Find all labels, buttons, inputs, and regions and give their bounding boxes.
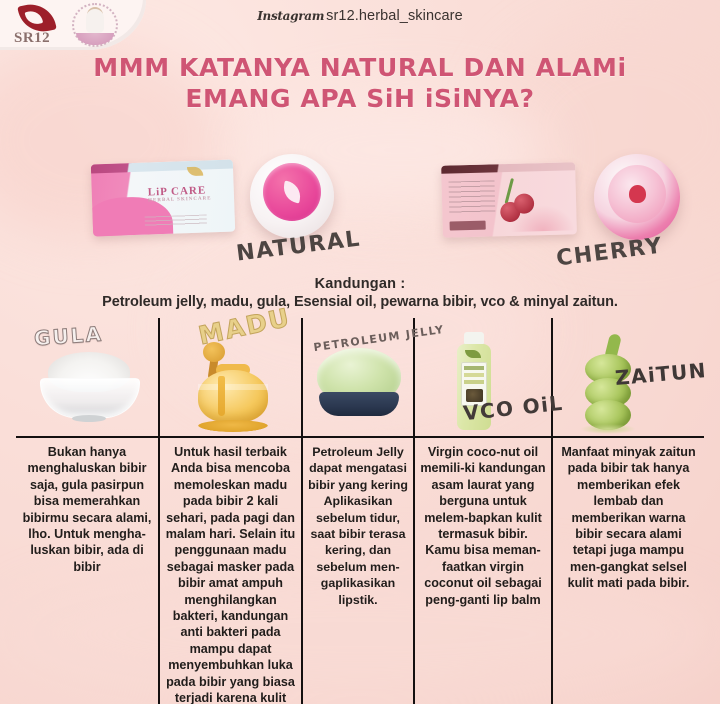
product-label-cherry: CHERRY bbox=[555, 234, 664, 272]
glass-bowl bbox=[40, 378, 140, 418]
honey-jar-body bbox=[198, 370, 268, 422]
instagram-label: Instagram bbox=[257, 9, 324, 23]
ingredient-image-zaitun: ZAiTUN bbox=[553, 318, 704, 436]
honey-drip bbox=[218, 376, 225, 416]
cherry-lip-care-jar bbox=[594, 154, 680, 240]
jelly-tub-icon bbox=[317, 348, 401, 420]
cherry-stem-icon bbox=[505, 178, 514, 204]
ingredient-grid: GULA Bukan hanya menghaluskan bibir saja… bbox=[16, 318, 704, 694]
box-lid bbox=[91, 160, 233, 174]
poster-canvas: SR12 Instagramsr12.herbal_skincare MMM K… bbox=[0, 0, 720, 704]
ingredient-text-madu: Untuk hasil terbaik Anda bisa mencoba me… bbox=[160, 436, 301, 704]
label-bar bbox=[464, 366, 484, 370]
ingredients-summary: Kandungan : Petroleum jelly, madu, gula,… bbox=[0, 276, 720, 310]
natural-lip-care-jar bbox=[250, 154, 334, 238]
box-fine-print bbox=[145, 214, 207, 226]
jar-inner-cherry bbox=[608, 165, 666, 223]
ingredient-text-petroleum-jelly: Petroleum Jelly dapat mengatasi bibir ya… bbox=[303, 436, 413, 608]
honey-pool bbox=[198, 420, 268, 432]
ingredient-image-madu: MADU bbox=[160, 318, 301, 436]
instagram-handle: sr12.herbal_skincare bbox=[326, 8, 463, 24]
ingredient-image-gula: GULA bbox=[16, 318, 158, 436]
sr12-logo-text: SR12 bbox=[14, 30, 50, 47]
ingredient-column-zaitun: ZAiTUN Manfaat minyak zaitun pada bibir … bbox=[551, 318, 704, 704]
page-title: MMM KATANYA NATURAL DAN ALAMi EMANG APA … bbox=[0, 52, 720, 114]
label-bar bbox=[464, 373, 484, 377]
ingredient-text-gula: Bukan hanya menghaluskan bibir saja, gul… bbox=[16, 436, 158, 575]
honey-jar-icon bbox=[192, 342, 274, 430]
ingredient-column-vco: VCO OiL Virgin coco-nut oil memili-ki ka… bbox=[413, 318, 551, 704]
badge-fan bbox=[76, 33, 114, 45]
headline-line-2: EMANG APA SiH iSiNYA? bbox=[0, 83, 720, 114]
ingredient-label-gula: GULA bbox=[33, 322, 103, 351]
jar-inner-pink bbox=[263, 163, 321, 221]
ingredient-column-gula: GULA Bukan hanya menghaluskan bibir saja… bbox=[16, 318, 158, 704]
label-bar bbox=[464, 380, 484, 384]
ingredient-text-zaitun: Manfaat minyak zaitun pada bibir tak han… bbox=[553, 436, 704, 592]
kandungan-title: Kandungan : bbox=[0, 276, 720, 292]
ingredient-column-madu: MADU Untuk hasil terbaik Anda bisa menco… bbox=[158, 318, 301, 704]
ingredient-text-vco: Virgin coco-nut oil memili-ki kandungan … bbox=[415, 436, 551, 608]
natural-lip-care-box: LiP CAREHERBAL SKINCARE bbox=[91, 160, 235, 237]
product-showcase: LiP CAREHERBAL SKINCARE NATURAL CHERRY bbox=[0, 140, 720, 280]
tub-rim bbox=[319, 392, 399, 416]
ingredient-image-petroleum-jelly: PETROLEUM JELLY bbox=[303, 318, 413, 436]
ingredient-column-petroleum-jelly: PETROLEUM JELLY Petroleum Jelly dapat me… bbox=[301, 318, 413, 704]
olive-shadow bbox=[581, 424, 635, 434]
box-brand-text: LiP CAREHERBAL SKINCARE bbox=[148, 184, 212, 203]
headline-line-1: MMM KATANYA NATURAL DAN ALAMi bbox=[93, 53, 626, 82]
sugar-bowl-icon bbox=[40, 352, 138, 418]
box-brand-block bbox=[450, 221, 486, 231]
kandungan-body: Petroleum jelly, madu, gula, Esensial oi… bbox=[0, 294, 720, 310]
box-fine-print bbox=[448, 180, 495, 215]
box-lid bbox=[441, 162, 575, 174]
bowl-base bbox=[72, 415, 106, 422]
instagram-credit: Instagramsr12.herbal_skincare bbox=[0, 7, 720, 24]
cherry-lip-care-box bbox=[441, 162, 577, 237]
